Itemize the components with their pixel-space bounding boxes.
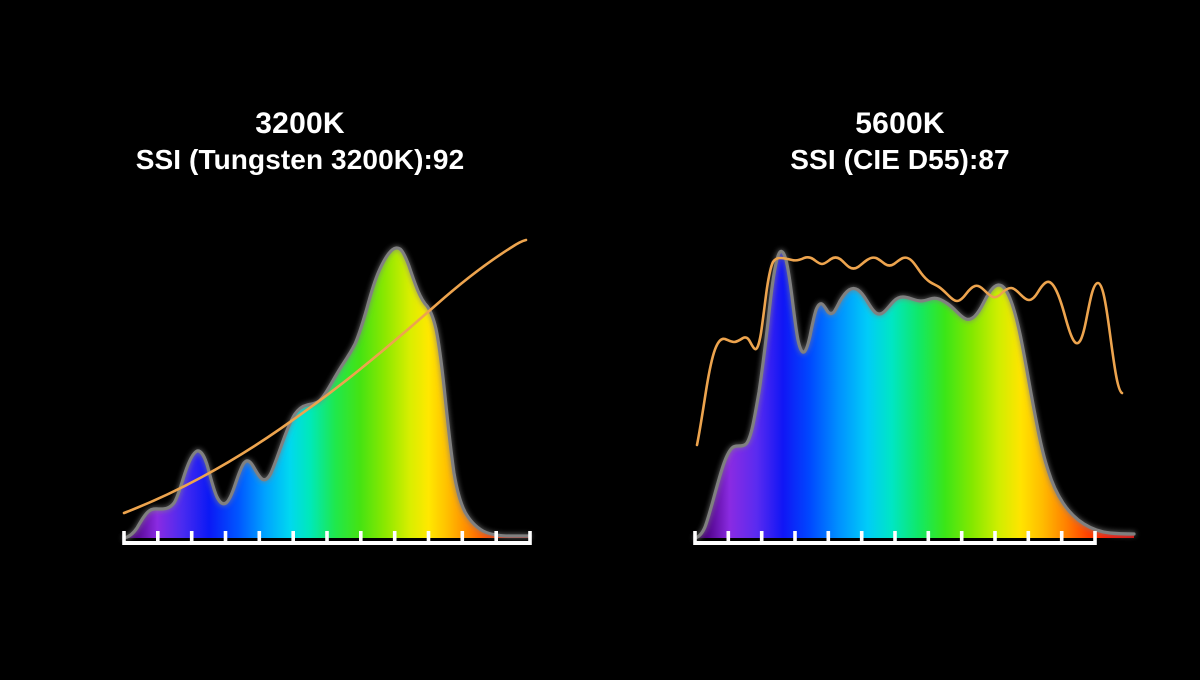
panel-5600k-plot xyxy=(600,0,1200,680)
panels-container: 3200K SSI (Tungsten 3200K):92 xyxy=(0,0,1200,680)
panel-3200k-plot xyxy=(0,0,600,680)
spd-comparison-canvas: 3200K SSI (Tungsten 3200K):92 xyxy=(0,0,1200,680)
panel-5600k: 5600K SSI (CIE D55):87 xyxy=(600,0,1200,680)
panel-3200k: 3200K SSI (Tungsten 3200K):92 xyxy=(0,0,600,680)
